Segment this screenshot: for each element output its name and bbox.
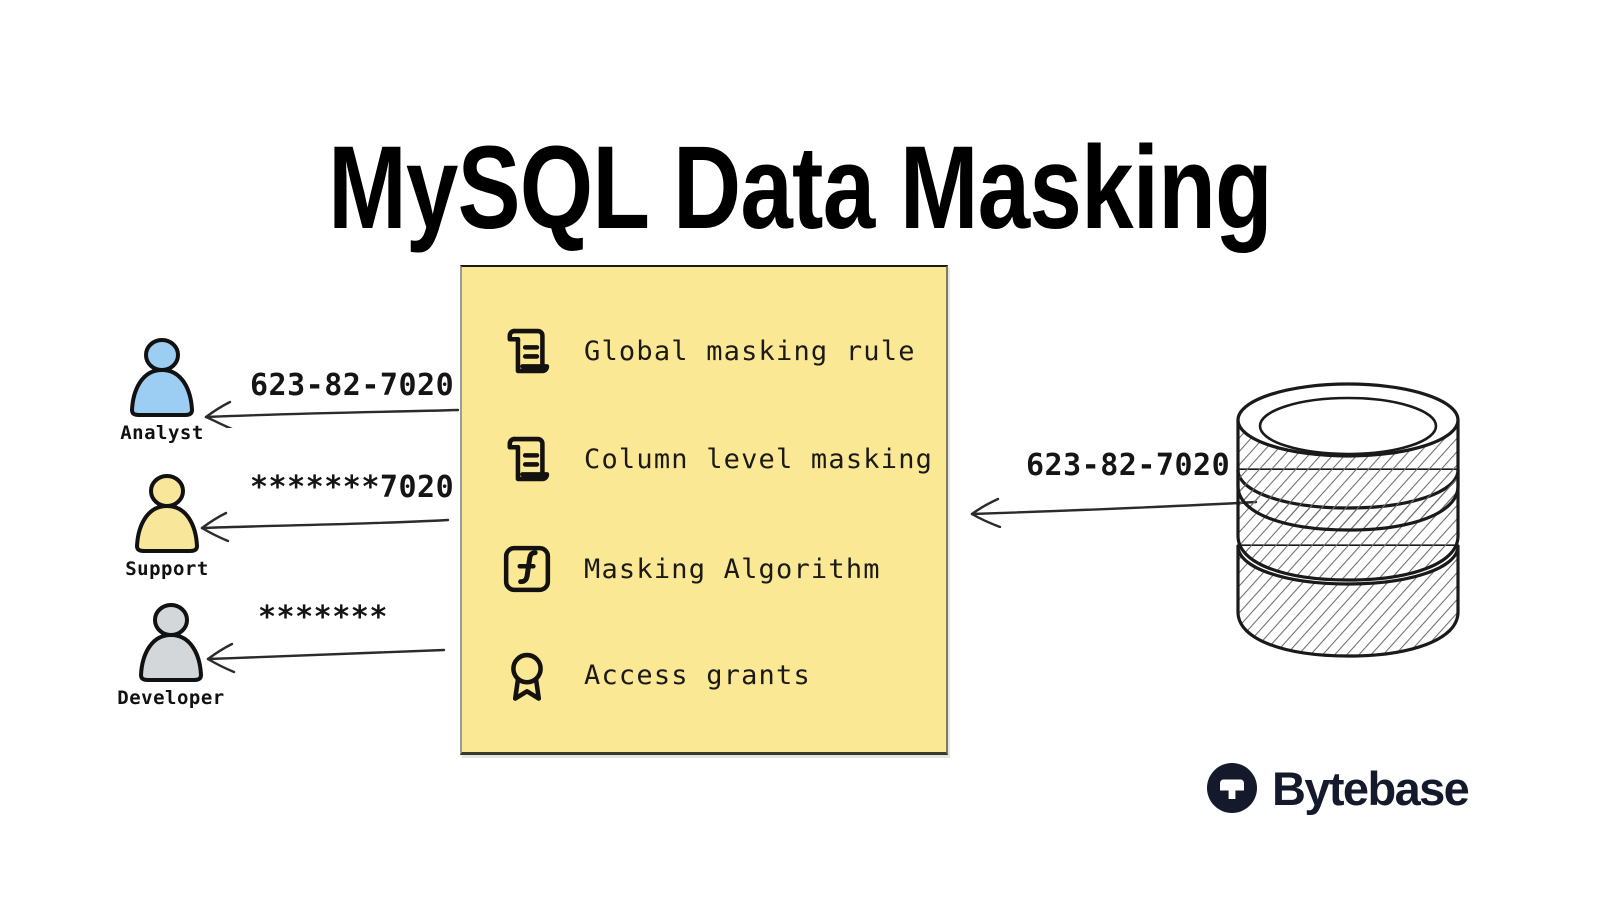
- list-item: Global masking rule: [498, 321, 916, 381]
- database-icon: [1232, 378, 1464, 668]
- bytebase-wordmark: Bytebase: [1272, 765, 1468, 812]
- page-title: MySQL Data Masking: [160, 126, 1440, 250]
- flow-value: 623-82-7020: [1026, 448, 1230, 483]
- list-item-label: Access grants: [584, 660, 811, 691]
- flow-support: *******7020: [188, 470, 450, 542]
- arrow-left-icon: [196, 640, 446, 674]
- flow-value: *******: [258, 600, 388, 635]
- arrow-left-icon: [190, 396, 460, 428]
- list-item-label: Global masking rule: [584, 336, 916, 367]
- bytebase-logo: Bytebase: [1206, 762, 1468, 814]
- flow-value: *******7020: [250, 470, 454, 505]
- list-item: Column level masking: [498, 429, 933, 489]
- bytebase-logo-icon: [1206, 762, 1258, 814]
- scroll-icon: [498, 430, 556, 488]
- flow-developer: *******: [196, 600, 446, 672]
- scroll-icon: [498, 322, 556, 380]
- masking-features-list: Global masking rule Column level masking: [462, 267, 946, 752]
- actor-label: Support: [125, 558, 209, 580]
- list-item: Masking Algorithm: [498, 539, 881, 599]
- arrow-left-icon: [958, 494, 1258, 528]
- list-item-label: Masking Algorithm: [584, 554, 881, 585]
- list-item-label: Column level masking: [584, 444, 933, 475]
- flow-source: 623-82-7020: [958, 448, 1258, 530]
- function-icon: [498, 540, 556, 598]
- flow-analyst: 623-82-7020: [190, 368, 460, 428]
- medal-icon: [498, 646, 556, 704]
- list-item: Access grants: [498, 645, 811, 705]
- diagram-canvas: MySQL Data Masking Global masking rule: [0, 0, 1600, 900]
- actor-label: Developer: [117, 687, 224, 709]
- masking-features-card: Global masking rule Column level masking: [460, 265, 948, 755]
- arrow-left-icon: [188, 510, 450, 544]
